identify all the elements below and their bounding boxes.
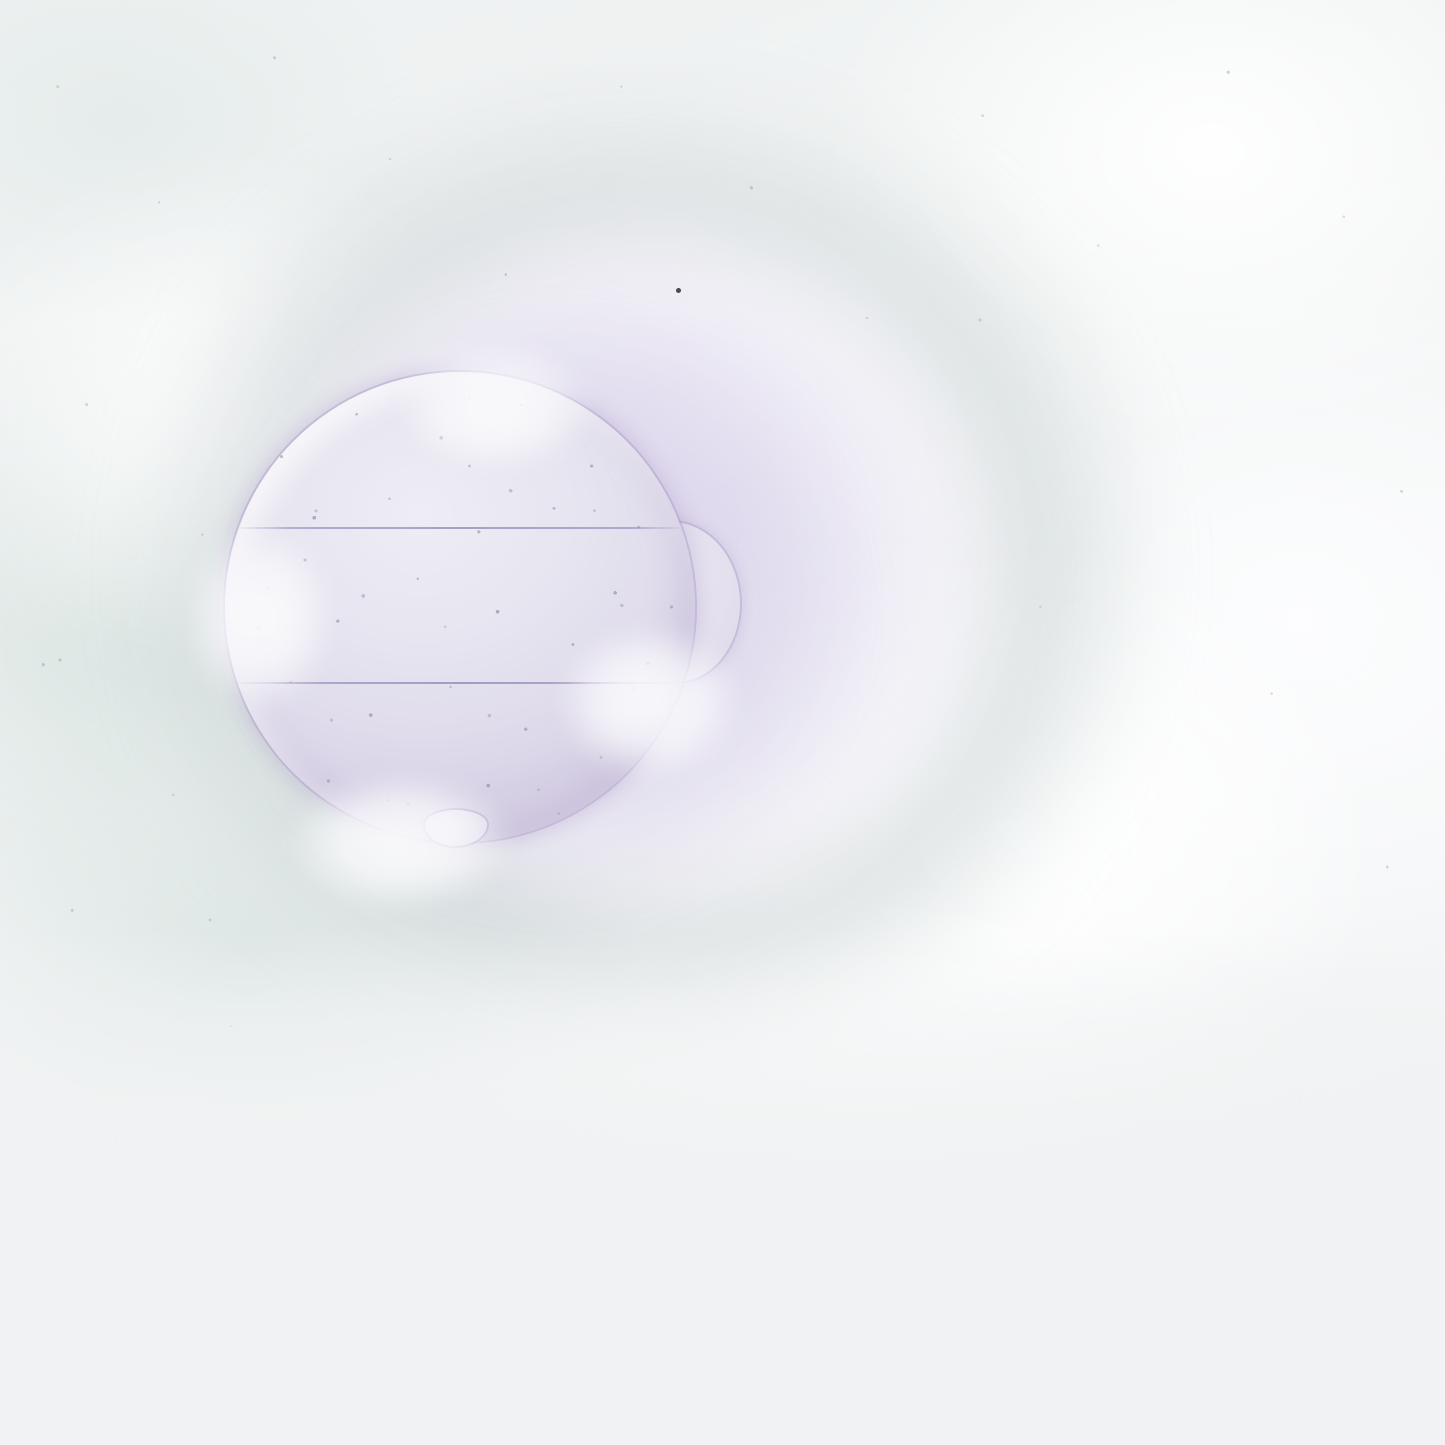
dark-particle [676, 288, 681, 293]
bath-bomb [225, 372, 695, 842]
foam-overlap-right [555, 622, 745, 782]
foam-overlap-top [395, 342, 595, 472]
product-feature-image: No BS Ingredients Organic formula No add… [0, 0, 1445, 1445]
foam-overlap-bottom [285, 772, 515, 912]
caption-block: No BS Ingredients Organic formula No add… [0, 1060, 1445, 1445]
foam-overlap-left [185, 522, 335, 712]
bath-bomb-seam-top [234, 527, 685, 529]
